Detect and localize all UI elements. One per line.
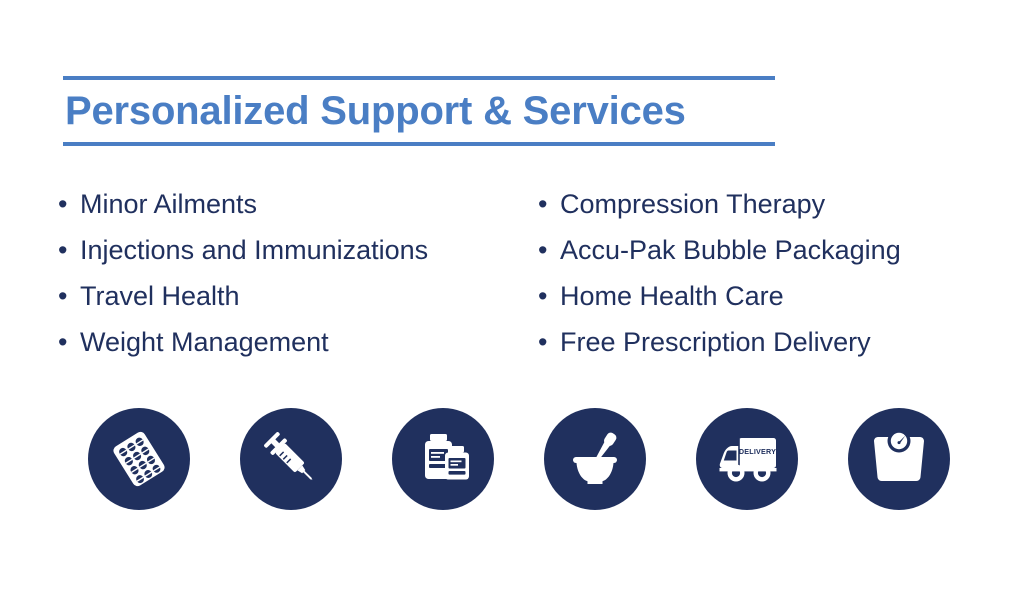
icon-badge-mortar-pestle <box>544 408 646 510</box>
pill-bottles-icon <box>413 429 473 489</box>
services-lists: • Minor Ailments • Injections and Immuni… <box>0 181 1025 366</box>
list-item-label: Compression Therapy <box>560 181 825 227</box>
page-title: Personalized Support & Services <box>63 80 775 142</box>
list-item: • Home Health Care <box>538 273 1018 319</box>
bullet-dot-icon: • <box>58 181 80 227</box>
syringe-icon <box>260 428 322 490</box>
bullet-dot-icon: • <box>538 181 560 227</box>
title-block: Personalized Support & Services <box>63 76 775 146</box>
services-column-left: • Minor Ailments • Injections and Immuni… <box>58 181 528 365</box>
list-item-label: Accu-Pak Bubble Packaging <box>560 227 901 273</box>
truck-delivery-text: DELIVERY <box>739 447 776 456</box>
list-item-label: Minor Ailments <box>80 181 257 227</box>
delivery-truck-icon: DELIVERY <box>715 434 779 484</box>
bullet-dot-icon: • <box>538 273 560 319</box>
services-column-right: • Compression Therapy • Accu-Pak Bubble … <box>538 181 1018 365</box>
icon-badge-syringe <box>240 408 342 510</box>
weight-scale-icon <box>869 431 929 487</box>
list-item-label: Free Prescription Delivery <box>560 319 871 365</box>
bullet-dot-icon: • <box>538 319 560 365</box>
icon-badge-pill-bottles <box>392 408 494 510</box>
mortar-pestle-icon <box>564 428 626 490</box>
list-item: • Compression Therapy <box>538 181 1018 227</box>
bullet-dot-icon: • <box>58 227 80 273</box>
bullet-dot-icon: • <box>58 319 80 365</box>
slide-canvas: Personalized Support & Services • Minor … <box>0 0 1025 590</box>
blister-pack-icon <box>108 428 170 490</box>
title-rule-bottom <box>63 142 775 146</box>
list-item: • Travel Health <box>58 273 528 319</box>
list-item-label: Injections and Immunizations <box>80 227 428 273</box>
icon-badge-delivery-truck: DELIVERY <box>696 408 798 510</box>
list-item: • Minor Ailments <box>58 181 528 227</box>
list-item: • Weight Management <box>58 319 528 365</box>
list-item: • Injections and Immunizations <box>58 227 528 273</box>
service-icon-row: DELIVERY <box>88 408 950 510</box>
bullet-dot-icon: • <box>58 273 80 319</box>
list-item-label: Weight Management <box>80 319 329 365</box>
list-item-label: Home Health Care <box>560 273 784 319</box>
bullet-dot-icon: • <box>538 227 560 273</box>
icon-badge-blister-pack <box>88 408 190 510</box>
icon-badge-weight-scale <box>848 408 950 510</box>
list-item: • Free Prescription Delivery <box>538 319 1018 365</box>
list-item: • Accu-Pak Bubble Packaging <box>538 227 1018 273</box>
list-item-label: Travel Health <box>80 273 240 319</box>
